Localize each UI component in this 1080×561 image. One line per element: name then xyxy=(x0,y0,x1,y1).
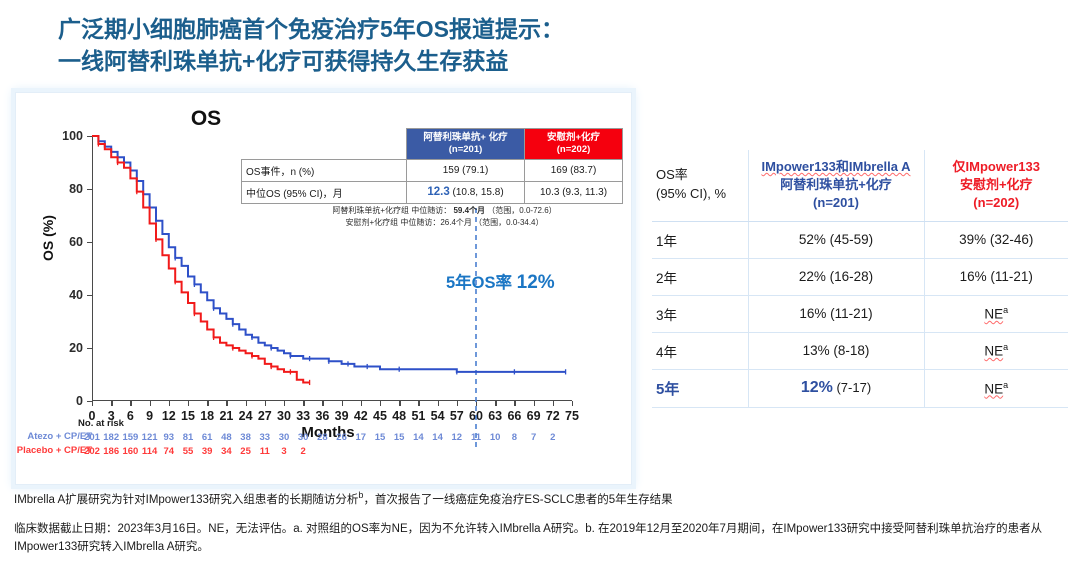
no-at-risk-value: 74 xyxy=(164,446,175,457)
x-axis-tick xyxy=(150,401,151,406)
no-at-risk-value: 14 xyxy=(432,432,443,443)
x-axis-tick xyxy=(226,401,227,406)
y-axis-tick-label: 100 xyxy=(62,129,83,143)
os-rate-header-atezo-line2: 阿替利珠单抗+化疗 xyxy=(753,176,920,194)
inline-stats-row-placebo: 10.3 (9.3, 11.3) xyxy=(525,181,623,203)
inline-stats-row-label: OS事件，n (%) xyxy=(242,159,407,181)
x-axis-tick xyxy=(342,401,343,406)
no-at-risk-value: 201 xyxy=(84,432,100,443)
footnote-secondary: 临床数据截止日期：2023年3月16日。NE，无法评估。a. 对照组的OS率为N… xyxy=(14,520,1068,557)
os-rate-header-placebo-line1: 仅IMpower133 xyxy=(929,158,1065,176)
os-rate-row-placebo-value: 39% (32-46) xyxy=(959,232,1033,247)
x-axis-tick-label: 57 xyxy=(450,409,464,423)
os-rate-row-placebo-value: NE xyxy=(984,381,1003,396)
page-title-line-1: 广泛期小细胞肺癌首个免疫治疗5年OS报道提示： xyxy=(58,14,818,46)
os-rate-header-atezo-line3: (n=201) xyxy=(753,194,920,212)
no-at-risk-value: 8 xyxy=(512,432,517,443)
os-rate-table: OS率 (95% CI), % IMpower133和IMbrella A 阿替… xyxy=(652,150,1068,408)
x-axis-tick xyxy=(111,401,112,406)
page-title: 广泛期小细胞肺癌首个免疫治疗5年OS报道提示： 一线阿替利珠单抗+化疗可获得持久… xyxy=(58,14,818,77)
x-axis-tick xyxy=(380,401,381,406)
no-at-risk-value: 61 xyxy=(202,432,213,443)
no-at-risk-value: 28 xyxy=(317,432,328,443)
x-axis-tick-label: 18 xyxy=(200,409,214,423)
x-axis-tick xyxy=(438,401,439,406)
five-year-os-annotation-label: 5年OS率 xyxy=(446,274,512,292)
no-at-risk-value: 17 xyxy=(356,432,367,443)
no-at-risk-label-placebo: Placebo + CP/ET xyxy=(17,445,92,456)
x-axis-tick-label: 72 xyxy=(546,409,560,423)
km-chart-card: OS 020406080100 036912151821242730333639… xyxy=(15,92,632,485)
x-axis-tick-label: 54 xyxy=(431,409,445,423)
inline-stats-header-atezo: 阿替利珠单抗+ 化疗 (n=201) xyxy=(407,129,525,160)
table-row: 2年22% (16-28)16% (11-21) xyxy=(652,258,1068,295)
x-axis-tick-label: 36 xyxy=(315,409,329,423)
x-axis-tick xyxy=(457,401,458,406)
no-at-risk-value: 160 xyxy=(122,446,138,457)
no-at-risk-value: 25 xyxy=(240,446,251,457)
inline-stats-header-atezo-line2: (n=201) xyxy=(409,144,522,156)
no-at-risk-label-atezo: Atezo + CP/ET xyxy=(27,431,92,442)
footnote-primary: IMbrella A扩展研究为针对IMpower133研究入组患者的长期随访分析… xyxy=(14,489,1064,508)
os-rate-header-metric-line1: OS率 xyxy=(656,166,744,185)
y-axis-tick-label: 0 xyxy=(76,394,83,408)
inline-stats-footnote-line-2: 安慰剂+化疗组 中位随访：26.4个月 （范围，0.0-34.4） xyxy=(266,217,623,229)
inline-stats-corner xyxy=(242,129,407,160)
x-axis-tick xyxy=(361,401,362,406)
x-axis-tick xyxy=(572,401,573,406)
os-rate-header-atezo-line1: IMpower133和IMbrella A xyxy=(753,158,920,176)
inline-stats-row-label: 中位OS (95% CI)，月 xyxy=(242,181,407,203)
x-axis-tick xyxy=(534,401,535,406)
x-axis-tick-label: 21 xyxy=(219,409,233,423)
os-rate-row-placebo: NEa xyxy=(924,295,1068,332)
page-title-line-2: 一线阿替利珠单抗+化疗可获得持久生存获益 xyxy=(58,46,818,78)
inline-stats-median-os-ci: (10.8, 15.8) xyxy=(453,187,504,198)
os-rate-header-placebo-line2: 安慰剂+化疗 xyxy=(929,176,1065,194)
no-at-risk-value: 38 xyxy=(240,432,251,443)
x-axis-tick xyxy=(130,401,131,406)
no-at-risk-value: 2 xyxy=(301,446,306,457)
y-axis-tick-label: 40 xyxy=(69,288,83,302)
x-axis-tick xyxy=(169,401,170,406)
os-rate-row-placebo-value: NE xyxy=(984,307,1003,322)
x-axis-tick xyxy=(322,401,323,406)
y-axis-label: OS (%) xyxy=(40,215,56,261)
os-rate-row-placebo: NEa xyxy=(924,332,1068,369)
x-axis-tick-label: 51 xyxy=(411,409,425,423)
inline-stats-footnote-1b: 59.4个月 xyxy=(453,206,485,215)
x-axis-tick xyxy=(188,401,189,406)
no-at-risk-value: 33 xyxy=(260,432,271,443)
os-rate-row-label: 4年 xyxy=(652,332,748,369)
no-at-risk-value: 114 xyxy=(142,446,157,457)
no-at-risk-value: 15 xyxy=(394,432,405,443)
os-rate-header-placebo: 仅IMpower133 安慰剂+化疗 (n=202) xyxy=(924,150,1068,221)
x-axis-tick-label: 75 xyxy=(565,409,579,423)
inline-stats-header-placebo-line2: (n=202) xyxy=(527,144,620,156)
no-at-risk-value: 93 xyxy=(164,432,175,443)
no-at-risk-value: 10 xyxy=(490,432,501,443)
inline-stats-header-atezo-line1: 阿替利珠单抗+ 化疗 xyxy=(409,132,522,144)
no-at-risk-value: 159 xyxy=(122,432,138,443)
x-axis-tick xyxy=(265,401,266,406)
no-at-risk-row-atezo: Atezo + CP/ET 20118215912193816148383330… xyxy=(16,432,633,446)
no-at-risk-value: 81 xyxy=(183,432,194,443)
x-axis-tick-label: 39 xyxy=(335,409,349,423)
inline-stats-header-row: 阿替利珠单抗+ 化疗 (n=201) 安慰剂+化疗 (n=202) xyxy=(242,129,623,160)
os-rate-row-label: 3年 xyxy=(652,295,748,332)
inline-stats-row: OS事件，n (%) 159 (79.1) 169 (83.7) xyxy=(242,159,623,181)
os-rate-row-placebo: 16% (11-21) xyxy=(924,258,1068,295)
x-axis-tick xyxy=(92,401,93,406)
no-at-risk-value: 2 xyxy=(550,432,555,443)
five-year-os-annotation: 5年OS率 12% xyxy=(446,269,555,294)
no-at-risk-value: 39 xyxy=(202,446,213,457)
inline-stats-header-placebo: 安慰剂+化疗 (n=202) xyxy=(525,129,623,160)
x-axis-tick-label: 15 xyxy=(181,409,195,423)
x-axis-tick xyxy=(303,401,304,406)
x-axis-tick xyxy=(495,401,496,406)
inline-stats-footnote: 阿替利珠单抗+化疗组 中位随访： 59.4个月 （范围，0.0-72.6） 安慰… xyxy=(266,205,623,228)
footnote-primary-text: IMbrella A扩展研究为针对IMpower133研究入组患者的长期随访分析 xyxy=(14,494,358,506)
os-rate-row-label: 5年 xyxy=(652,369,748,407)
no-at-risk-value: 30 xyxy=(298,432,309,443)
no-at-risk-value: 55 xyxy=(183,446,194,457)
inline-stats-median-os-value: 12.3 xyxy=(427,186,449,198)
x-axis-tick-label: 27 xyxy=(258,409,272,423)
x-axis-tick-label: 48 xyxy=(392,409,406,423)
y-axis-tick-label: 20 xyxy=(69,341,83,355)
os-rate-table-header-row: OS率 (95% CI), % IMpower133和IMbrella A 阿替… xyxy=(652,150,1068,221)
os-rate-row-placebo: 39% (32-46) xyxy=(924,221,1068,258)
x-axis-tick-label: 30 xyxy=(277,409,291,423)
os-rate-row-label: 2年 xyxy=(652,258,748,295)
inline-stats-row-atezo: 12.3 (10.8, 15.8) xyxy=(407,181,525,203)
x-axis-tick-label: 24 xyxy=(239,409,253,423)
no-at-risk-row-placebo: Placebo + CP/ET 202186160114745539342511… xyxy=(16,446,633,460)
os-rate-row-placebo-value: NE xyxy=(984,344,1003,359)
no-at-risk-value: 182 xyxy=(103,432,119,443)
x-axis-tick-label: 42 xyxy=(354,409,368,423)
no-at-risk-value: 202 xyxy=(84,446,100,457)
x-axis-tick xyxy=(207,401,208,406)
table-row: 3年16% (11-21)NEa xyxy=(652,295,1068,332)
os-rate-row-placebo-superscript: a xyxy=(1003,305,1008,315)
os-rate-header-placebo-line3: (n=202) xyxy=(929,194,1065,212)
os-rate-row-label: 1年 xyxy=(652,221,748,258)
no-at-risk-value: 7 xyxy=(531,432,536,443)
inline-stats-row: 中位OS (95% CI)，月 12.3 (10.8, 15.8) 10.3 (… xyxy=(242,181,623,203)
os-rate-header-metric-line2: (95% CI), % xyxy=(656,185,744,204)
x-axis-tick xyxy=(284,401,285,406)
five-year-os-annotation-value: 12% xyxy=(517,272,555,293)
no-at-risk-value: 3 xyxy=(281,446,286,457)
no-at-risk-value: 11 xyxy=(471,432,481,443)
x-axis-tick xyxy=(246,401,247,406)
os-rate-row-atezo: 22% (16-28) xyxy=(748,258,924,295)
x-axis-tick-label: 66 xyxy=(507,409,521,423)
table-row: 4年13% (8-18)NEa xyxy=(652,332,1068,369)
x-axis-tick xyxy=(418,401,419,406)
inline-stats-footnote-1a: 阿替利珠单抗+化疗组 中位随访： xyxy=(332,206,451,215)
os-rate-row-atezo-ci: (7-17) xyxy=(833,380,871,395)
no-at-risk-value: 30 xyxy=(279,432,290,443)
os-rate-row-atezo: 12% (7-17) xyxy=(748,369,924,407)
table-row: 1年52% (45-59)39% (32-46) xyxy=(652,221,1068,258)
inline-stats-header-placebo-line1: 安慰剂+化疗 xyxy=(527,132,620,144)
inline-stats-row-atezo: 159 (79.1) xyxy=(407,159,525,181)
no-at-risk-value: 26 xyxy=(336,432,347,443)
x-axis-tick-label: 12 xyxy=(162,409,176,423)
y-axis-tick-label: 80 xyxy=(69,182,83,196)
os-rate-row-atezo: 13% (8-18) xyxy=(748,332,924,369)
y-axis-tick-label: 60 xyxy=(69,235,83,249)
no-at-risk-value: 11 xyxy=(260,446,270,457)
no-at-risk-title: No. at risk xyxy=(46,418,156,429)
x-axis-tick-label: 33 xyxy=(296,409,310,423)
os-rate-header-atezo: IMpower133和IMbrella A 阿替利珠单抗+化疗 (n=201) xyxy=(748,150,924,221)
x-axis-tick xyxy=(399,401,400,406)
x-axis-tick-label: 45 xyxy=(373,409,387,423)
inline-stats-table: 阿替利珠单抗+ 化疗 (n=201) 安慰剂+化疗 (n=202) OS事件，n… xyxy=(241,128,623,204)
x-axis-tick-label: 69 xyxy=(527,409,541,423)
x-axis-tick xyxy=(514,401,515,406)
no-at-risk-value: 12 xyxy=(452,432,463,443)
inline-stats-row-placebo: 169 (83.7) xyxy=(525,159,623,181)
os-rate-row-placebo-superscript: a xyxy=(1003,380,1008,390)
x-axis-tick xyxy=(553,401,554,406)
no-at-risk-value: 121 xyxy=(142,432,158,443)
x-axis-tick-label: 63 xyxy=(488,409,502,423)
os-rate-row-placebo-superscript: a xyxy=(1003,342,1008,352)
os-rate-row-atezo-value: 12% xyxy=(801,379,833,396)
no-at-risk-value: 15 xyxy=(375,432,386,443)
no-at-risk-value: 186 xyxy=(103,446,119,457)
os-rate-row-atezo: 16% (11-21) xyxy=(748,295,924,332)
footnote-primary-text-tail: ，首次报告了一线癌症免疫治疗ES-SCLC患者的5年生存结果 xyxy=(363,494,672,506)
no-at-risk-value: 14 xyxy=(413,432,424,443)
os-rate-header-metric: OS率 (95% CI), % xyxy=(652,150,748,221)
no-at-risk-value: 34 xyxy=(221,446,232,457)
table-row: 5年12% (7-17)NEa xyxy=(652,369,1068,407)
os-rate-row-placebo-value: 16% (11-21) xyxy=(960,269,1033,284)
os-rate-row-atezo: 52% (45-59) xyxy=(748,221,924,258)
os-rate-row-placebo: NEa xyxy=(924,369,1068,407)
inline-stats-footnote-1c: （范围，0.0-72.6） xyxy=(487,206,556,215)
inline-stats-footnote-line-1: 阿替利珠单抗+化疗组 中位随访： 59.4个月 （范围，0.0-72.6） xyxy=(266,205,623,217)
no-at-risk-value: 48 xyxy=(221,432,232,443)
